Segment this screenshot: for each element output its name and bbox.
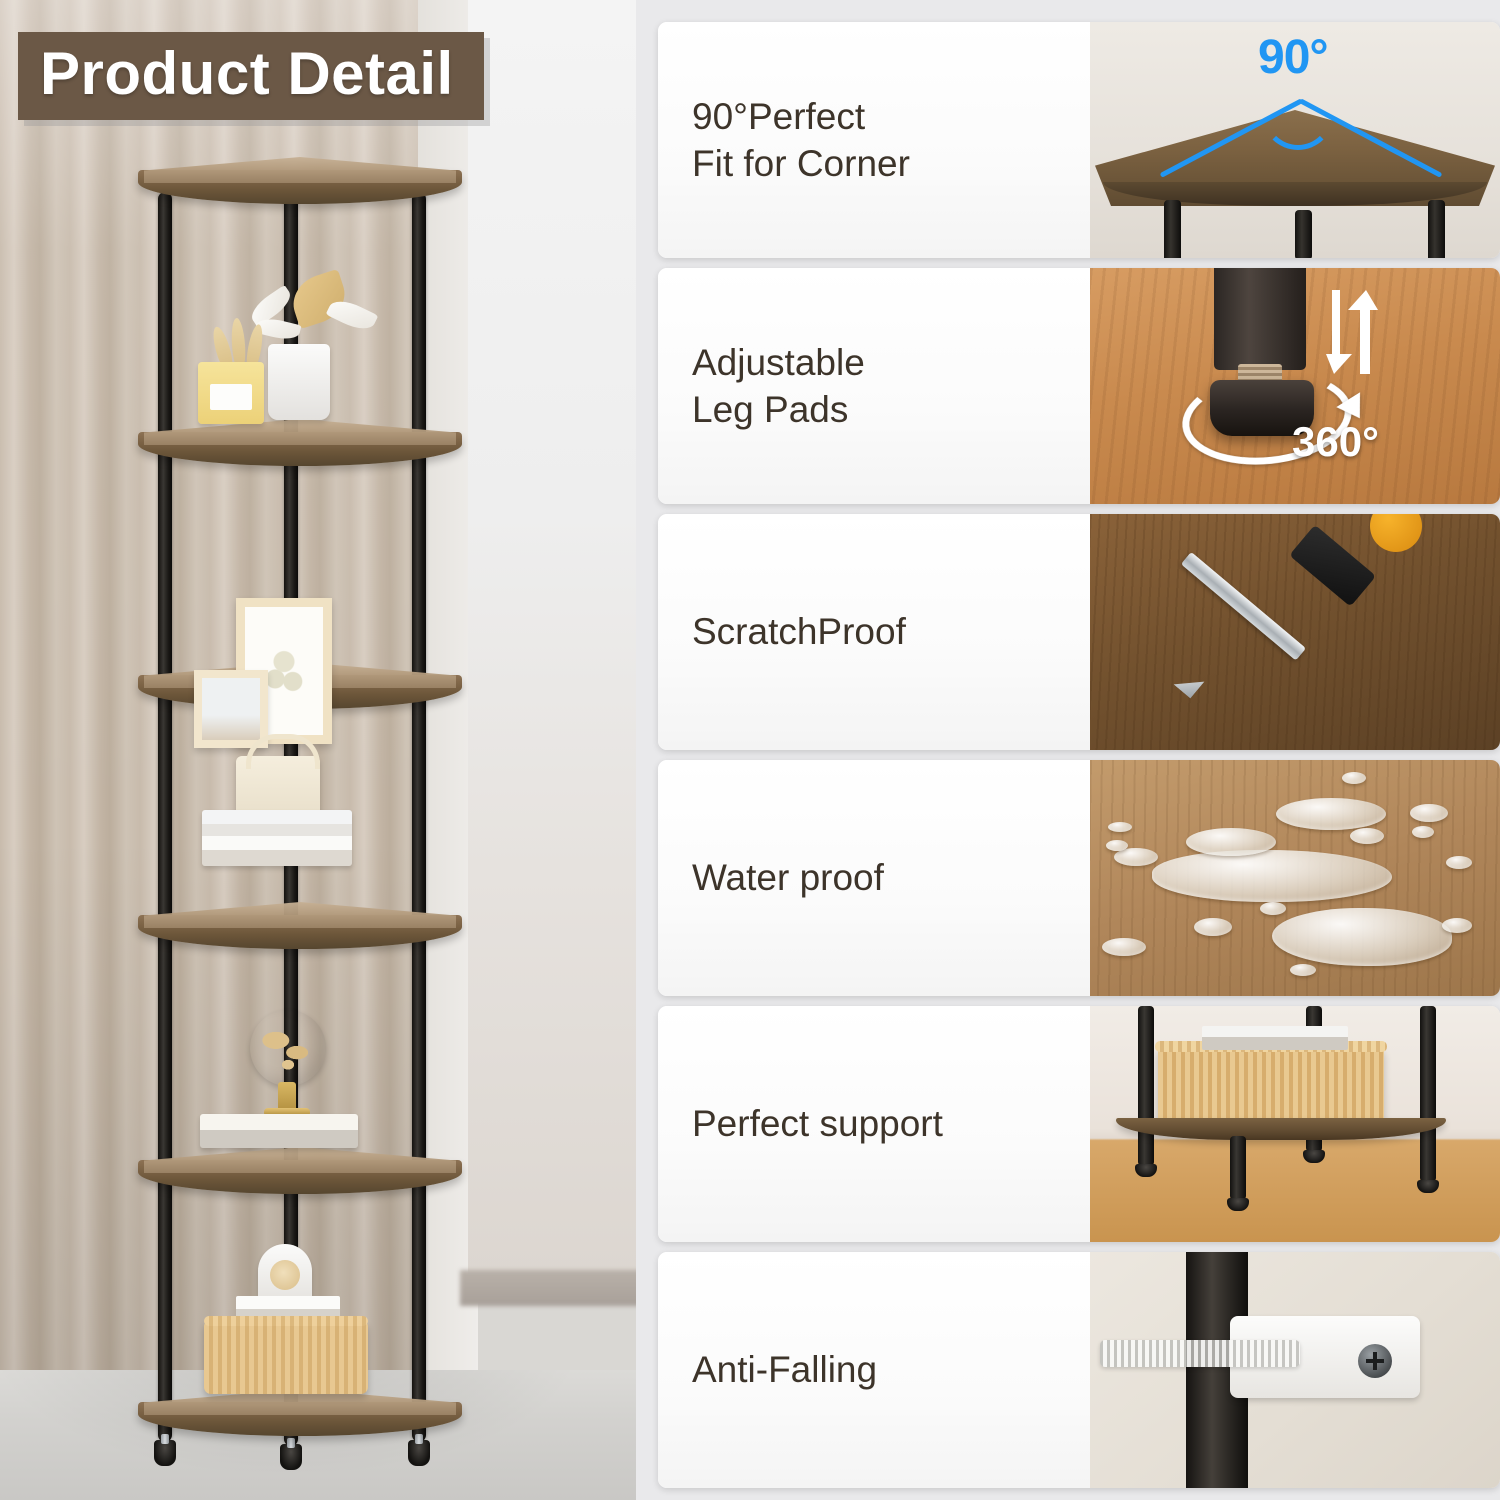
feature-card-water-proof[interactable]: Water proof [658,760,1500,996]
water-droplet [1260,902,1286,915]
leg-foot-icon [1227,1198,1249,1211]
feature-card-list: 90°Perfect Fit for Corner 90° Adjustable… [636,0,1500,1500]
screwdriver-on-wood-photo [1090,514,1500,750]
page-title-banner: Product Detail [18,32,484,120]
shelf-leg-post [1214,268,1306,370]
feature-card-corner-fit[interactable]: 90°Perfect Fit for Corner 90° [658,22,1500,258]
page-title: Product Detail [40,44,454,104]
picture-frame-small [194,670,268,748]
water-droplet [1186,828,1276,856]
water-droplet [1412,826,1434,838]
shelf-leg [1230,1136,1246,1200]
water-puddle [1272,908,1452,966]
water-droplet [1194,918,1232,936]
corner-shelf-angle-photo: 90° [1090,22,1500,258]
anti-tip-strap [1100,1340,1300,1367]
decorative-globe [250,1010,326,1086]
feature-label-wrap: Anti-Falling [658,1252,1090,1488]
shelf-leg [1295,210,1312,258]
feature-card-perfect-support[interactable]: Perfect support [658,1006,1500,1242]
feature-label-wrap: Adjustable Leg Pads [658,268,1090,504]
yellow-candle [198,362,264,424]
water-droplet [1106,840,1128,851]
feature-label: Water proof [692,854,884,901]
anti-tip-strap-photo [1090,1252,1500,1488]
feature-label: Perfect support [692,1100,943,1147]
feature-label: 90°Perfect Fit for Corner [692,93,910,188]
window [468,0,636,1280]
bottom-shelf-basket-photo [1090,1006,1500,1242]
shelf-leg [1420,1006,1436,1182]
feature-label-wrap: 90°Perfect Fit for Corner [658,22,1090,258]
feature-label-wrap: ScratchProof [658,514,1090,750]
feature-card-leg-pads[interactable]: Adjustable Leg Pads 360° [658,268,1500,504]
window-sill [460,1270,636,1306]
feature-label: Anti-Falling [692,1346,877,1393]
feature-label-wrap: Water proof [658,760,1090,996]
water-droplet [1446,856,1472,869]
water-droplet [1350,828,1384,844]
shelf-leg [1138,1006,1154,1166]
screwdriver-tip [1174,668,1205,699]
corner-shelf-unit [140,170,460,1470]
table-clock [258,1244,312,1302]
adjustable-leg-pad-photo: 360° [1090,268,1500,504]
water-droplets-on-wood-photo [1090,760,1500,996]
water-droplet [1108,822,1132,832]
leg-foot-icon [280,1444,302,1470]
angle-value-label: 90° [1258,30,1328,85]
shelf-leg [1428,200,1445,258]
angle-arc [1262,78,1334,150]
water-droplet [1410,804,1448,822]
hero-product-photo: Product Detail [0,0,636,1500]
shelf-leg [1164,200,1181,258]
water-puddle [1152,850,1392,902]
bottom-shelf-board [1116,1118,1446,1140]
feature-label: Adjustable Leg Pads [692,339,865,434]
feature-card-scratch-proof[interactable]: ScratchProof [658,514,1500,750]
portable-lamp [236,756,320,816]
leg-foot-icon [408,1440,430,1466]
water-droplet [1102,938,1146,956]
leg-foot-icon [1135,1164,1157,1177]
book-stack [1202,1026,1348,1050]
water-droplet [1290,964,1316,976]
leg-foot-icon [154,1440,176,1466]
water-droplet [1442,918,1472,933]
shelf-pole-right [412,192,426,1442]
leg-foot-icon [1303,1150,1325,1163]
screwdriver-shaft [1181,552,1306,661]
rotation-value-label: 360° [1292,418,1379,466]
up-down-arrow-icon [1326,290,1378,374]
leg-foot-icon [1417,1180,1439,1193]
book-stack [202,810,352,866]
white-planter [268,344,330,420]
rattan-basket [1158,1048,1384,1122]
feature-label: ScratchProof [692,608,906,655]
shelf-pole-left [158,192,172,1442]
screw-head-icon [1358,1344,1392,1378]
water-droplet [1342,772,1366,784]
screwdriver-handle [1370,514,1422,552]
product-detail-page: Product Detail 90°Perfect Fit for Corner… [0,0,1500,1500]
feature-label-wrap: Perfect support [658,1006,1090,1242]
water-droplet [1276,798,1386,830]
screwdriver-grip [1289,525,1376,607]
book-stack [200,1114,358,1148]
feature-card-anti-falling[interactable]: Anti-Falling [658,1252,1500,1488]
rattan-basket [204,1322,368,1394]
